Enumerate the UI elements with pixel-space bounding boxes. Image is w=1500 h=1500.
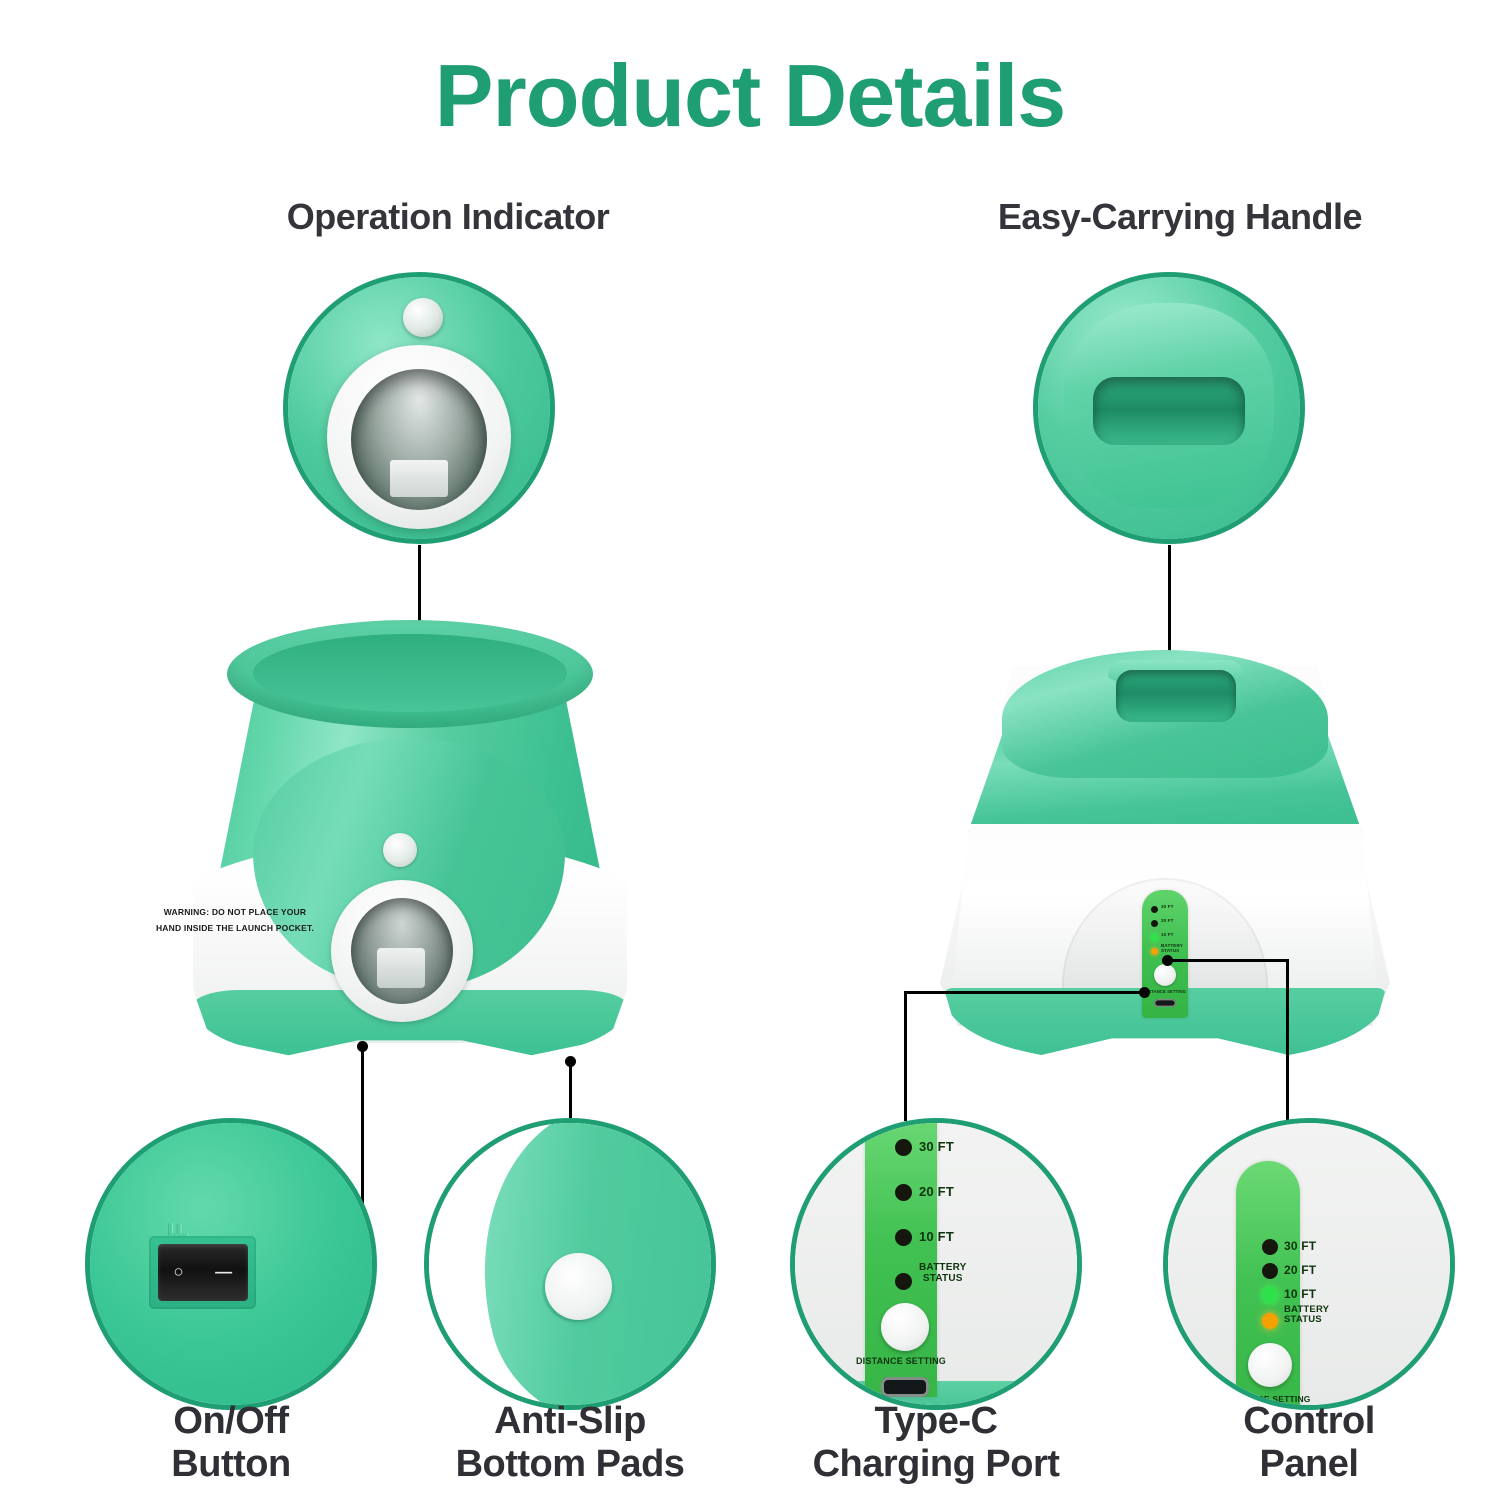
leader-line-type-c-h <box>904 991 1144 994</box>
distance-setting-button[interactable] <box>1154 964 1176 986</box>
product-warning-text: WARNING: DO NOT PLACE YOUR HAND INSIDE T… <box>120 905 350 936</box>
distance-setting-label: DISTANCE SETTING <box>849 1357 953 1367</box>
led-10ft <box>895 1229 912 1246</box>
feature-label-line2: Charging Port <box>782 1443 1090 1486</box>
product-control-panel[interactable]: 30 FT 20 FT 10 FT BATTERYSTATUS DISTANCE… <box>1142 890 1188 1018</box>
feature-label-line2: Bottom Pads <box>416 1443 724 1486</box>
led-20ft <box>1151 920 1158 927</box>
usb-c-port[interactable] <box>1154 999 1176 1007</box>
product-image-front <box>175 618 645 1073</box>
product-handle-grip <box>1116 670 1236 722</box>
led-20ft <box>895 1184 912 1201</box>
control-panel-strip[interactable]: 30 FT 20 FT 10 FT BATTERYSTATUS DISTANCE… <box>1236 1161 1300 1410</box>
led-30ft <box>1262 1239 1278 1255</box>
feature-label-line1: Anti-Slip <box>416 1400 724 1443</box>
warning-line-1: WARNING: DO NOT PLACE YOUR <box>120 905 350 921</box>
leader-line-anti-slip <box>569 1062 572 1122</box>
led-battery-status <box>895 1273 912 1290</box>
callout-easy-carrying-handle-art <box>1038 277 1300 539</box>
led-label-battery-status: BATTERYSTATUS <box>919 1263 967 1284</box>
rocker-off-symbol: ○ <box>173 1262 183 1282</box>
product-launch-plate <box>377 948 425 988</box>
callout-on-off-button: OFF ON ○ — <box>85 1118 377 1410</box>
motion-sensor-icon <box>403 298 442 337</box>
callout-operation-indicator <box>283 272 555 544</box>
led-label-20ft: 20 FT <box>1284 1264 1316 1277</box>
led-label-30ft: 30 FT <box>919 1140 954 1154</box>
warning-line-2: HAND INSIDE THE LAUNCH POCKET. <box>120 921 350 937</box>
callout-operation-indicator-art <box>288 277 550 539</box>
section-heading-operation-indicator: Operation Indicator <box>168 196 728 238</box>
led-label-battery-status: BATTERYSTATUS <box>1161 944 1183 954</box>
led-battery-status <box>1151 948 1158 955</box>
feature-label-on-off-button: On/Off Button <box>85 1400 377 1485</box>
control-panel-strip[interactable]: 30 FT 20 FT 10 FT BATTERYSTATUS DISTANCE… <box>865 1118 937 1397</box>
launch-plate <box>390 460 448 497</box>
led-label-10ft: 10 FT <box>1161 933 1174 938</box>
callout-anti-slip-art <box>429 1123 711 1405</box>
led-30ft <box>1151 906 1158 913</box>
distance-setting-button[interactable] <box>1248 1343 1292 1387</box>
distance-setting-button[interactable] <box>881 1303 929 1351</box>
led-label-battery-status: BATTERYSTATUS <box>1284 1305 1329 1325</box>
led-10ft <box>1262 1287 1278 1303</box>
feature-label-line2: Panel <box>1163 1443 1455 1486</box>
feature-label-line1: Type-C <box>782 1400 1090 1443</box>
led-label-10ft: 10 FT <box>919 1230 954 1244</box>
product-sensor-dome <box>383 833 417 867</box>
distance-setting-label: DISTANCE SETTING <box>1144 989 1186 994</box>
callout-type-c-port: 30 FT 20 FT 10 FT BATTERYSTATUS DISTANCE… <box>790 1118 1082 1410</box>
callout-anti-slip-pads <box>424 1118 716 1410</box>
led-label-20ft: 20 FT <box>919 1185 954 1199</box>
anti-slip-pad <box>545 1253 613 1321</box>
callout-control-panel: 30 FT 20 FT 10 FT BATTERYSTATUS DISTANCE… <box>1163 1118 1455 1410</box>
product-image-rear: 30 FT 20 FT 10 FT BATTERYSTATUS DISTANCE… <box>930 628 1400 1068</box>
callout-on-off-art: OFF ON ○ — <box>90 1123 372 1405</box>
usb-c-port[interactable] <box>881 1377 929 1397</box>
handle-grip <box>1093 377 1245 445</box>
led-20ft <box>1262 1263 1278 1279</box>
leader-line-type-c-v <box>904 991 907 1121</box>
power-rocker-switch[interactable]: ○ — <box>158 1244 248 1300</box>
callout-type-c-art: 30 FT 20 FT 10 FT BATTERYSTATUS DISTANCE… <box>795 1123 1077 1405</box>
leader-line-control-panel-v <box>1286 959 1289 1121</box>
section-heading-easy-carrying-handle: Easy-Carrying Handle <box>900 196 1460 238</box>
led-label-10ft: 10 FT <box>1284 1288 1316 1301</box>
led-10ft <box>1151 934 1158 941</box>
page-title: Product Details <box>0 52 1500 140</box>
rocker-on-symbol: — <box>215 1262 232 1282</box>
callout-control-panel-art: 30 FT 20 FT 10 FT BATTERYSTATUS DISTANCE… <box>1168 1123 1450 1405</box>
feature-label-type-c-port: Type-C Charging Port <box>782 1400 1090 1485</box>
infographic-canvas: Product Details Operation Indicator Easy… <box>0 0 1500 1500</box>
led-30ft <box>895 1139 912 1156</box>
callout-easy-carrying-handle <box>1033 272 1305 544</box>
feature-label-line1: Control <box>1163 1400 1455 1443</box>
feature-label-line2: Button <box>85 1443 377 1486</box>
feature-label-line1: On/Off <box>85 1400 377 1443</box>
led-label-30ft: 30 FT <box>1284 1240 1316 1253</box>
led-label-20ft: 20 FT <box>1161 919 1174 924</box>
led-battery-status <box>1262 1313 1278 1329</box>
led-label-30ft: 30 FT <box>1161 905 1174 910</box>
feature-label-anti-slip-pads: Anti-Slip Bottom Pads <box>416 1400 724 1485</box>
leader-line-control-panel-h <box>1167 959 1288 962</box>
feature-label-control-panel: Control Panel <box>1163 1400 1455 1485</box>
